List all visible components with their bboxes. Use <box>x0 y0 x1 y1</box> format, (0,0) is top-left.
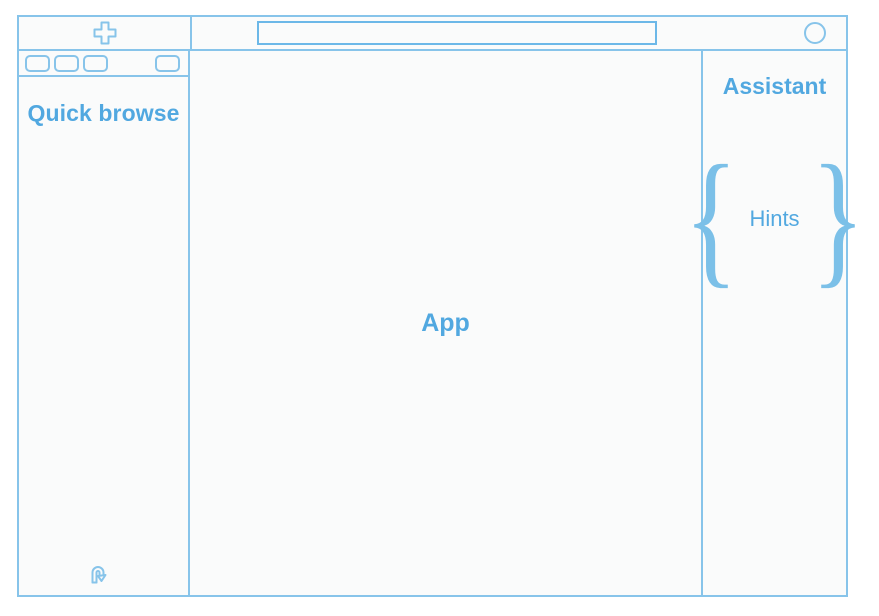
hints-group: { Hints } <box>703 155 846 283</box>
left-brace-icon: { <box>684 155 738 283</box>
sidebar-tool-collapse[interactable] <box>155 55 180 72</box>
quick-browse-title: Quick browse <box>19 77 188 128</box>
wireframe-window: Quick browse App Assi <box>17 15 848 597</box>
sidebar-panel: Quick browse <box>17 51 190 597</box>
right-brace-icon: } <box>811 155 865 283</box>
app-content-area: App <box>190 51 703 597</box>
sidebar-footer <box>19 561 188 595</box>
sidebar-content: Quick browse <box>19 77 188 595</box>
assistant-title: Assistant <box>723 51 827 100</box>
sidebar-tool-2[interactable] <box>54 55 79 72</box>
top-bar <box>17 15 848 51</box>
top-bar-left-section <box>19 17 192 49</box>
app-label: App <box>421 309 470 338</box>
top-bar-center-section <box>192 17 726 49</box>
sidebar-toolbar <box>19 51 188 77</box>
sidebar-tool-3[interactable] <box>83 55 108 72</box>
u-turn-arrow-icon[interactable] <box>87 561 188 587</box>
top-bar-right-section <box>726 17 846 49</box>
add-icon[interactable] <box>92 20 118 46</box>
hints-label: Hints <box>747 206 801 232</box>
assistant-panel: Assistant { Hints } <box>703 51 848 597</box>
window-body: Quick browse App Assi <box>17 51 848 597</box>
circle-avatar-icon[interactable] <box>804 22 826 44</box>
sidebar-tool-1[interactable] <box>25 55 50 72</box>
search-input[interactable] <box>257 21 657 45</box>
